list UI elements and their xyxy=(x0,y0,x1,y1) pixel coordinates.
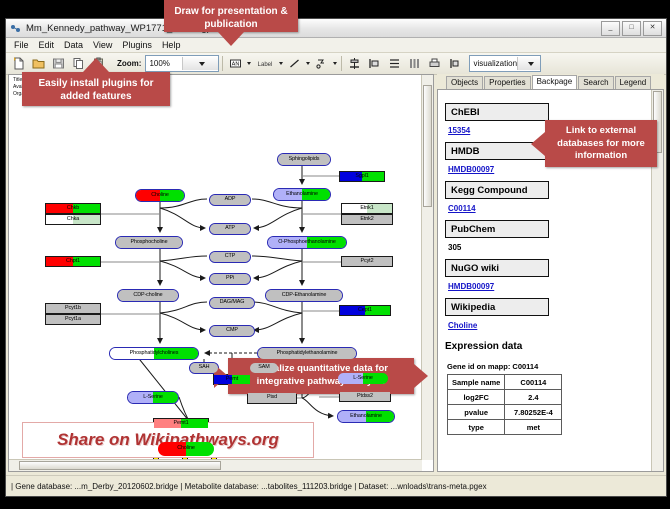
pathway-node-pemt1[interactable]: Pemt1 xyxy=(153,418,209,429)
node-label: Pisd xyxy=(267,395,277,400)
minimize-button[interactable]: _ xyxy=(601,21,620,36)
node-label: Pcyt2 xyxy=(361,259,374,264)
node-label: Ptdss2 xyxy=(357,394,373,399)
pathway-drawing[interactable]: Title: Availa Organi xyxy=(9,75,433,471)
pathway-node-pemt-small[interactable]: Pemt xyxy=(213,374,251,385)
node-label: CDP-choline xyxy=(133,293,162,298)
node-label: DAG/MAG xyxy=(220,300,245,305)
node-label: Chpt1 xyxy=(66,259,80,264)
menubar: File Edit Data View Plugins Help xyxy=(6,38,666,53)
canvas-vscroll-thumb[interactable] xyxy=(423,85,432,207)
svg-text:Label: Label xyxy=(258,62,273,68)
tab-properties[interactable]: Properties xyxy=(484,76,530,90)
window-titlebar: Mm_Kennedy_pathway_WP1771_45176.gpml _ □… xyxy=(6,19,666,38)
anchor-dropdown-arrow[interactable] xyxy=(333,62,337,65)
pathway-node-pcyt1a[interactable]: Pcyt1a xyxy=(45,314,101,325)
pathway-node-cept1[interactable]: Cept1 xyxy=(339,305,391,316)
cell-log2fc-key: log2FC xyxy=(448,390,505,405)
kegg-compound-link[interactable]: C00114 xyxy=(448,204,651,213)
label-icon[interactable]: Label xyxy=(253,54,277,73)
anchor-icon[interactable] xyxy=(312,54,331,73)
canvas-vertical-scrollbar[interactable] xyxy=(421,75,433,460)
nugo-wiki-heading: NuGO wiki xyxy=(445,259,549,277)
pathway-node-sgpl1[interactable]: Sgpl1 xyxy=(339,171,385,182)
node-label: Etnk2 xyxy=(360,217,373,222)
pathway-node-l-serine-left[interactable]: L-Serine xyxy=(127,391,179,404)
pathway-node-phosphocholine[interactable]: Phosphocholine xyxy=(115,236,183,249)
cell-pvalue-key: pvalue xyxy=(448,405,505,420)
node-label: Chka xyxy=(67,217,79,222)
pathway-node-choline-top[interactable]: Choline xyxy=(135,189,185,202)
pathway-node-cmp[interactable]: CMP xyxy=(209,325,255,337)
node-label: Etnk1 xyxy=(360,206,373,211)
pathway-node-ptdss2[interactable]: Ptdss2 xyxy=(339,391,391,402)
table-row: Sample name C00114 xyxy=(448,375,562,390)
zoom-dropdown-arrow[interactable] xyxy=(182,57,219,70)
pathway-node-etnk2[interactable]: Etnk2 xyxy=(341,214,393,225)
menu-edit[interactable]: Edit xyxy=(34,39,60,52)
menu-plugins[interactable]: Plugins xyxy=(117,39,157,52)
table-row: type met xyxy=(448,420,562,435)
node-label: PPi xyxy=(226,276,234,281)
node-label: Chkb xyxy=(67,206,79,211)
node-label: Phosphocholine xyxy=(131,240,168,245)
pathway-node-phosphatidylethanolamine[interactable]: Phosphatidylethanolamine xyxy=(257,347,357,360)
kegg-compound-heading: Kegg Compound xyxy=(445,181,549,199)
pathvisio-icon xyxy=(10,23,21,34)
node-label: CMP xyxy=(226,328,238,333)
pathway-node-choline-selected[interactable]: Choline xyxy=(157,441,215,457)
node-label: ADP xyxy=(225,197,236,202)
tab-legend[interactable]: Legend xyxy=(615,76,652,90)
distribute-icon[interactable] xyxy=(405,54,424,73)
node-label: ATP xyxy=(225,226,235,231)
node-label: O-Phosphoethanolamine xyxy=(278,240,336,245)
node-label: Phosphatidylcholines xyxy=(130,351,179,356)
maximize-button[interactable]: □ xyxy=(622,21,641,36)
node-label: Choline xyxy=(151,193,169,198)
node-label: Choline xyxy=(177,446,195,451)
tab-search[interactable]: Search xyxy=(578,76,613,90)
wikipedia-link[interactable]: Choline xyxy=(448,321,651,330)
open-folder-icon[interactable] xyxy=(29,54,48,73)
links-callout: Link to external databases for more info… xyxy=(545,120,657,167)
node-label: CDP-Ethanolamine xyxy=(282,293,327,298)
zoom-combobox[interactable]: 100% xyxy=(145,55,219,72)
pathway-node-pcyt2[interactable]: Pcyt2 xyxy=(341,256,393,267)
node-label: Pemt xyxy=(226,377,238,382)
line-icon[interactable] xyxy=(285,54,304,73)
nugo-wiki-link[interactable]: HMDB00097 xyxy=(448,282,651,291)
pubchem-heading: PubChem xyxy=(445,220,549,238)
node-label: SAH xyxy=(199,365,210,370)
cell-type-val: met xyxy=(505,420,562,435)
visualization-dropdown-arrow[interactable] xyxy=(517,57,540,70)
cell-type-key: type xyxy=(448,420,505,435)
chebi-heading: ChEBI xyxy=(445,103,549,121)
pathway-node-chpt1[interactable]: Chpt1 xyxy=(45,256,101,267)
pathway-node-sphingolipids[interactable]: Sphingolipids xyxy=(277,153,331,166)
save-icon[interactable] xyxy=(49,54,68,73)
canvas-horizontal-scrollbar[interactable] xyxy=(9,459,422,471)
node-label: Cept1 xyxy=(358,308,372,313)
node-label: Pemt1 xyxy=(173,421,188,426)
pathway-node-o-phosphoethanolamine[interactable]: O-Phosphoethanolamine xyxy=(267,236,347,249)
wikipedia-heading: Wikipedia xyxy=(445,298,549,316)
sidebar-tabstrip: Objects Properties Backpage Search Legen… xyxy=(437,74,664,89)
pathway-node-dagmag[interactable]: DAG/MAG xyxy=(209,297,255,309)
cell-sample-name-key: Sample name xyxy=(448,375,505,390)
new-file-icon[interactable] xyxy=(9,54,28,73)
line-dropdown-arrow[interactable] xyxy=(306,62,310,65)
zoom-label: Zoom: xyxy=(117,59,141,68)
node-label: SAM xyxy=(258,365,269,370)
pathway-node-atp[interactable]: ATP xyxy=(209,223,251,235)
pathway-node-etnk1[interactable]: Etnk1 xyxy=(341,203,393,214)
close-button[interactable]: ✕ xyxy=(643,21,662,36)
stack-icon[interactable] xyxy=(385,54,404,73)
gene-id-note: Gene id on mapp: C00114 xyxy=(447,362,651,371)
cell-sample-name-val: C00114 xyxy=(505,375,562,390)
plugins-callout: Easily install plugins for added feature… xyxy=(22,72,170,106)
datanode-dropdown-arrow[interactable] xyxy=(247,62,251,65)
pathway-node-l-serine-right[interactable]: L-Serine xyxy=(337,372,389,385)
node-label: Sgpl1 xyxy=(355,174,368,179)
expression-data-heading: Expression data xyxy=(445,341,651,352)
pathway-node-sah[interactable]: SAH xyxy=(189,362,219,374)
node-label: Pcyt1b xyxy=(65,306,81,311)
menu-help[interactable]: Help xyxy=(157,39,186,52)
toolbar-separator xyxy=(222,56,223,71)
zoom-value: 100% xyxy=(146,59,182,68)
pathway-node-cdp-ethanolamine[interactable]: CDP-Ethanolamine xyxy=(265,289,343,302)
align-left-icon[interactable] xyxy=(365,54,384,73)
pathway-node-pisd[interactable]: Pisd xyxy=(247,392,297,404)
canvas-hscroll-thumb[interactable] xyxy=(19,461,221,470)
cell-pvalue-val: 7.80252E-4 xyxy=(505,405,562,420)
pathway-node-ctp[interactable]: CTP xyxy=(209,251,251,263)
pathway-node-cdp-choline[interactable]: CDP-choline xyxy=(117,289,179,302)
node-label: Sphingolipids xyxy=(289,157,320,162)
menu-file[interactable]: File xyxy=(9,39,34,52)
pathway-node-ethanolamine[interactable]: Ethanolamine xyxy=(273,188,331,201)
table-row: pvalue 7.80252E-4 xyxy=(448,405,562,420)
visualization-combobox[interactable]: visualization xyxy=(469,55,541,72)
links-callout-arrow xyxy=(531,132,545,156)
draw-callout: Draw for presentation & publication xyxy=(164,0,298,32)
pathway-canvas[interactable]: Title: Availa Organi xyxy=(8,74,434,472)
visualization-value: visualization xyxy=(470,59,517,68)
screenshot-root: Mm_Kennedy_pathway_WP1771_45176.gpml _ □… xyxy=(0,0,670,509)
print-icon[interactable] xyxy=(425,54,444,73)
pathway-node-adp[interactable]: ADP xyxy=(209,194,251,206)
menu-data[interactable]: Data xyxy=(59,39,88,52)
expression-data-table: Sample name C00114 log2FC 2.4 pvalue 7.8… xyxy=(447,374,562,435)
pathway-node-chkb[interactable]: Chkb xyxy=(45,203,101,214)
toolbar-separator-2 xyxy=(341,56,342,71)
tab-backpage[interactable]: Backpage xyxy=(532,75,578,90)
pathway-node-ppi[interactable]: PPi xyxy=(209,273,251,285)
statusbar: | Gene database: ...m_Derby_20120602.bri… xyxy=(6,475,666,496)
table-row: log2FC 2.4 xyxy=(448,390,562,405)
pathway-node-chka[interactable]: Chka xyxy=(45,214,101,225)
pathway-node-pcyt1b[interactable]: Pcyt1b xyxy=(45,303,101,314)
node-label: L-Serine xyxy=(353,376,373,381)
cell-log2fc-val: 2.4 xyxy=(505,390,562,405)
svg-text:AN: AN xyxy=(232,62,240,68)
statusbar-text: | Gene database: ...m_Derby_20120602.bri… xyxy=(6,482,487,491)
visualize-callout-arrow-right xyxy=(414,364,428,388)
pathway-node-ethanolamine-bottom[interactable]: Ethanolamine xyxy=(337,410,395,423)
node-label: CTP xyxy=(225,254,235,259)
window-controls: _ □ ✕ xyxy=(601,21,662,36)
draw-callout-arrow xyxy=(218,32,244,46)
node-label: L-Serine xyxy=(143,395,163,400)
align-center-icon[interactable] xyxy=(345,54,364,73)
datanode-icon[interactable]: AN xyxy=(226,54,245,73)
node-label: Ethanolamine xyxy=(286,192,318,197)
node-label: Ethanolamine xyxy=(350,414,382,419)
layout-icon[interactable] xyxy=(445,54,464,73)
plugins-callout-arrow xyxy=(83,58,109,72)
tab-objects[interactable]: Objects xyxy=(446,76,483,90)
node-label: Phosphatidylethanolamine xyxy=(277,351,338,356)
node-label: Pcyt1a xyxy=(65,317,81,322)
label-dropdown-arrow[interactable] xyxy=(279,62,283,65)
pubchem-value: 305 xyxy=(448,243,651,252)
pathway-node-phosphatidylcholines[interactable]: Phosphatidylcholines xyxy=(109,347,199,360)
menu-view[interactable]: View xyxy=(88,39,117,52)
pathway-node-sam[interactable]: SAM xyxy=(249,362,279,374)
